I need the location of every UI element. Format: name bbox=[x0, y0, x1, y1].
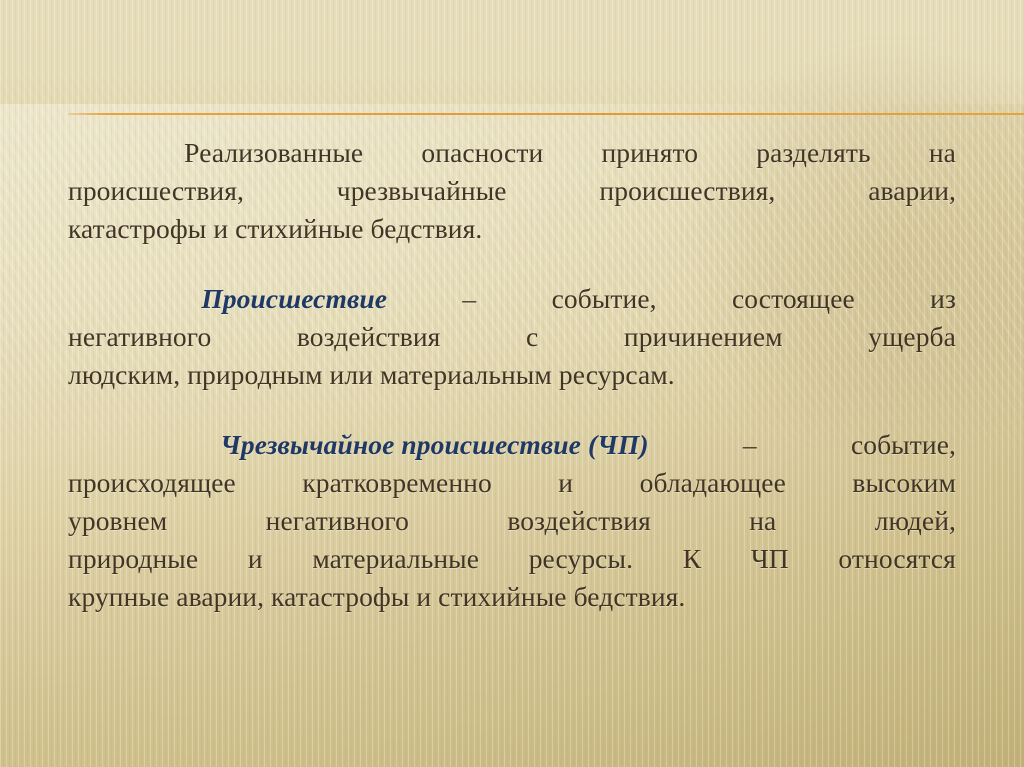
paragraph-chp: Чрезвычайное происшествие (ЧП)–событие, … bbox=[68, 426, 956, 616]
text-line: людским, природным или материальным ресу… bbox=[68, 356, 956, 394]
word: относятся bbox=[838, 540, 956, 578]
word: природные bbox=[68, 540, 198, 578]
word: состоящее bbox=[732, 280, 855, 318]
word: материальные bbox=[312, 540, 479, 578]
text-line: происшествия,чрезвычайныепроисшествия,ав… bbox=[68, 172, 956, 210]
word: ущерба bbox=[868, 318, 956, 356]
text-line: происходящее кратковременно и обладающее… bbox=[68, 464, 956, 502]
word: воздействия bbox=[507, 502, 651, 540]
word: причинением bbox=[624, 318, 783, 356]
word: разделять bbox=[756, 134, 870, 172]
word: негативного bbox=[266, 502, 409, 540]
word: принято bbox=[601, 134, 698, 172]
text-line: природныеиматериальныересурсы.КЧПотносят… bbox=[68, 540, 956, 578]
presentation-slide: Реализованныеопасностиприняторазделятьна… bbox=[0, 0, 1024, 767]
slide-body-text: Реализованныеопасностиприняторазделятьна… bbox=[68, 134, 956, 616]
word: на bbox=[929, 134, 956, 172]
word: ЧП bbox=[751, 540, 789, 578]
word: негативного bbox=[68, 318, 211, 356]
paragraph-proisshestvie: Происшествие–событие,состоящееиз негатив… bbox=[68, 280, 956, 394]
text-line: Чрезвычайное происшествие (ЧП)–событие, bbox=[68, 426, 956, 464]
word: – bbox=[462, 280, 476, 318]
word: на bbox=[749, 502, 776, 540]
header-divider-rule bbox=[68, 113, 1024, 115]
text-line: Происшествие–событие,состоящееиз bbox=[68, 280, 956, 318]
word: аварии, bbox=[868, 172, 956, 210]
paragraph-intro: Реализованныеопасностиприняторазделятьна… bbox=[68, 134, 956, 248]
word: событие, bbox=[552, 280, 657, 318]
word: людей, bbox=[875, 502, 956, 540]
word: происшествия, bbox=[599, 172, 775, 210]
word: и bbox=[248, 540, 263, 578]
text-line: катастрофы и стихийные бедствия. bbox=[68, 210, 956, 248]
text-line: уровнемнегативноговоздействияналюдей, bbox=[68, 502, 956, 540]
word: Реализованные bbox=[184, 134, 363, 172]
word: уровнем bbox=[68, 502, 167, 540]
word: чрезвычайные bbox=[337, 172, 507, 210]
word: событие, bbox=[851, 426, 956, 464]
text-line: Реализованныеопасностиприняторазделятьна bbox=[68, 134, 956, 172]
text-line: негативноговоздействияспричинениемущерба bbox=[68, 318, 956, 356]
word: с bbox=[526, 318, 538, 356]
term-chp: Чрезвычайное происшествие (ЧП) bbox=[220, 426, 648, 464]
word: происшествия, bbox=[68, 172, 244, 210]
word: ресурсы. bbox=[529, 540, 633, 578]
word: воздействия bbox=[297, 318, 441, 356]
word: из bbox=[930, 280, 956, 318]
text-line: крупные аварии, катастрофы и стихийные б… bbox=[68, 578, 956, 616]
word: опасности bbox=[421, 134, 543, 172]
term-proisshestvie: Происшествие bbox=[201, 280, 387, 318]
word: К bbox=[683, 540, 701, 578]
word: – bbox=[743, 426, 757, 464]
